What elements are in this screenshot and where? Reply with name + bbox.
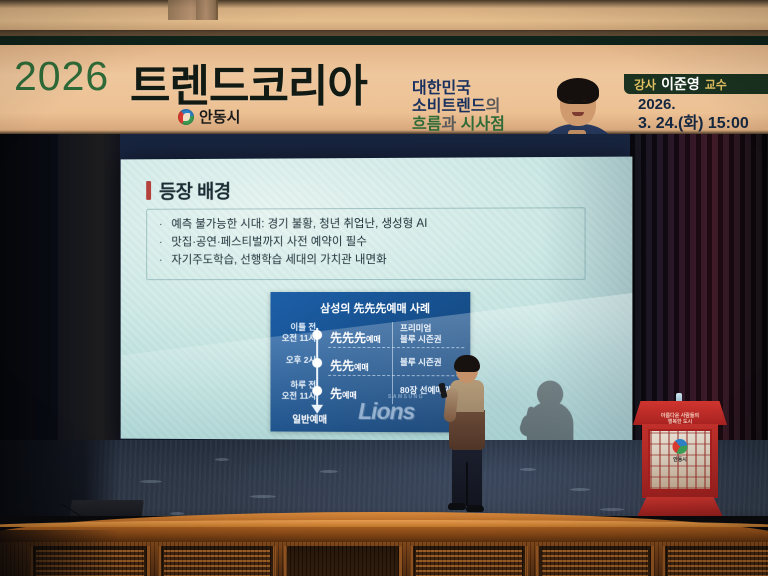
diagram-row-time: 이틀 전 오전 11시	[282, 322, 317, 345]
banner-subtitle-line3-c: 시사점	[461, 116, 505, 133]
banner-schedule: 2026. 3. 24.(화) 15:00 안동시민회관 낙동홀	[638, 96, 749, 134]
diagram-title: 삼성의 先先先예매 사례	[320, 300, 430, 316]
bullet-text: 맛집·공연·페스티벌까지 사전 예약이 필수	[171, 234, 366, 252]
podium-top-banner: 아름다운 사람들의 행복한 도시	[633, 401, 727, 425]
presenter	[440, 358, 496, 516]
benefit-line1: 프리미엄	[400, 323, 442, 335]
speaker-tag-suffix: 교수	[705, 76, 727, 93]
banner-city-name: 안동시	[199, 106, 240, 127]
banner-date-time: 3. 24.(화) 15:00	[638, 114, 749, 133]
label-suffix: 예매	[342, 391, 357, 400]
auditorium-photo-scene: 2026 트렌드코리아 안동시 대한민국 소비트렌드의 흐름과 시사점	[0, 0, 768, 576]
andong-city-logo-icon	[178, 109, 194, 125]
speaker-portrait-photo	[530, 72, 626, 134]
banner-subtitle-line2-b: 의	[486, 98, 501, 115]
diagram-column-separator	[392, 322, 393, 404]
banner-city-block: 안동시	[178, 106, 240, 127]
diagram-row-time: 하루 전 오전 11시	[282, 380, 317, 403]
banner-subtitle-line3-a: 흐름	[412, 116, 441, 133]
presenter-shadow	[515, 376, 586, 441]
bullet-marker-icon: ·	[159, 217, 163, 234]
list-item: · 자기주도학습, 선행학습 세대의 가치관 내면화	[159, 251, 572, 269]
podium-front-panel: 안동시	[648, 429, 712, 491]
banner-subtitle-line2-a: 소비트렌드	[412, 98, 486, 115]
diagram-row-benefit: 프리미엄 블루 시즌권	[400, 323, 442, 346]
label-suffix: 예매	[366, 335, 381, 344]
bullet-marker-icon: ·	[159, 252, 163, 269]
diagram-row-label: 先先先예매	[330, 329, 381, 347]
time-line2: 오전 11시	[282, 391, 317, 403]
banner-year: 2026	[14, 53, 109, 100]
diagram-bottom-label: 일반예매	[292, 412, 327, 426]
banner-date-year: 2026.	[638, 96, 749, 114]
time-line1: 하루 전	[282, 380, 317, 392]
diagram-row-benefit: 블루 시즌권	[400, 357, 442, 369]
benefit-line2: 블루 시즌권	[400, 335, 442, 347]
diagram-row-label: 先예매	[330, 385, 357, 403]
slide-heading: 등장 배경	[159, 177, 231, 204]
event-banner: 2026 트렌드코리아 안동시 대한민국 소비트렌드의 흐름과 시사점	[0, 36, 768, 134]
barrier-handrail-highlight	[0, 520, 768, 527]
list-item: · 맛집·공연·페스티벌까지 사전 예약이 필수	[159, 233, 572, 252]
diagram-row-time: 오후 2시	[286, 355, 316, 367]
label-suffix: 예매	[354, 363, 369, 372]
pit-left-shadow	[0, 530, 120, 576]
bullet-text: 자기주도학습, 선행학습 세대의 가치관 내면화	[171, 252, 386, 270]
list-item: · 예측 불가능한 시대: 경기 불황, 청년 취업난, 생성형 AI	[159, 215, 572, 234]
banner-top-edge	[0, 36, 768, 45]
slide-heading-block: 등장 배경	[146, 177, 230, 204]
speaker-name-tag: 강사 이준영 교수	[624, 74, 768, 94]
diagram-row-divider	[328, 347, 464, 348]
time-line2: 오후 2시	[286, 355, 316, 367]
handheld-microphone-icon	[439, 383, 448, 399]
benefit-line1: 블루 시즌권	[400, 357, 442, 369]
label-hanja: 先	[330, 387, 342, 401]
heading-accent-bar-icon	[146, 181, 151, 200]
timeline-axis	[316, 328, 318, 410]
label-hanja: 先先先	[330, 331, 366, 345]
banner-subtitle-line1: 대한민국	[412, 80, 471, 97]
slide-bullet-box: · 예측 불가능한 시대: 경기 불황, 청년 취업난, 생성형 AI · 맛집…	[146, 207, 585, 280]
time-line1: 이틀 전	[282, 322, 317, 333]
podium-logo-text: 안동시	[673, 456, 687, 463]
banner-title: 트렌드코리아	[130, 50, 367, 114]
time-line2: 오전 11시	[282, 333, 317, 344]
left-wall-panel	[58, 134, 120, 464]
label-hanja: 先先	[330, 359, 354, 373]
diagram-row-label: 先先예매	[330, 357, 369, 375]
bullet-marker-icon: ·	[159, 234, 163, 251]
speaker-tag-prefix: 강사	[634, 76, 656, 93]
andong-city-logo-icon	[673, 439, 688, 454]
projection-screen: 등장 배경 · 예측 불가능한 시대: 경기 불황, 청년 취업난, 생성형 A…	[121, 157, 633, 442]
banner-subtitle: 대한민국 소비트렌드의 흐름과 시사점	[412, 80, 505, 134]
podium: 아름다운 사람들의 행복한 도시 안동시	[632, 393, 728, 525]
bullet-text: 예측 불가능한 시대: 경기 불황, 청년 취업난, 생성형 AI	[171, 216, 427, 234]
ceiling-vent-icon-2	[196, 0, 218, 20]
banner-subtitle-line3-b: 과	[441, 116, 456, 133]
speaker-name: 이준영	[661, 74, 700, 94]
